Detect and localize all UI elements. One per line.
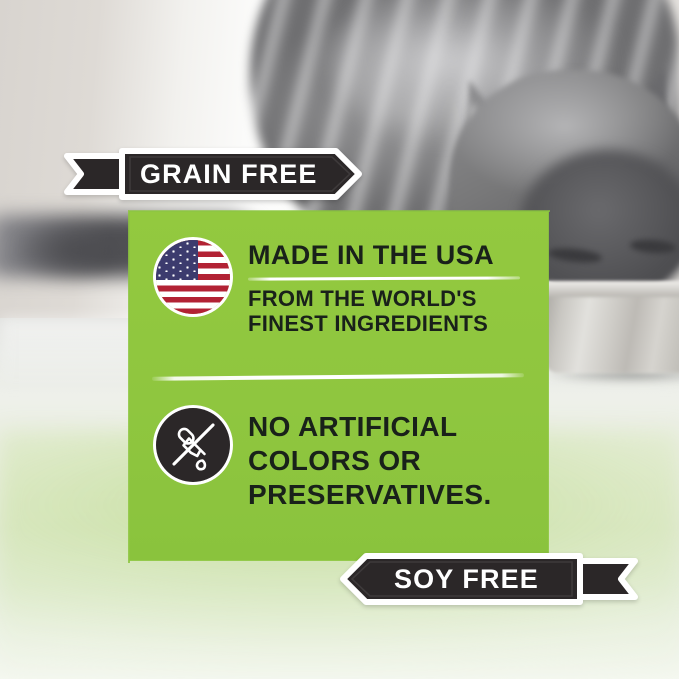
feature-line-2: COLORS OR xyxy=(248,444,492,478)
feature-no-artificial: NO ARTIFICIAL COLORS OR PRESERVATIVES. xyxy=(156,408,492,512)
no-dropper-circle-icon xyxy=(156,408,230,482)
food-bowl-rim xyxy=(542,281,679,297)
usa-flag-circle-icon xyxy=(156,240,230,314)
flag-stars xyxy=(156,240,198,280)
feature-panel: MADE IN THE USA FROM THE WORLD'S FINEST … xyxy=(130,212,548,560)
feature-subline-1: FROM THE WORLD'S xyxy=(248,286,520,312)
feature-subline-2: FINEST INGREDIENTS xyxy=(248,311,520,337)
headline-underline xyxy=(248,276,520,280)
feature-made-in-usa: MADE IN THE USA FROM THE WORLD'S FINEST … xyxy=(156,240,520,337)
feature-line-3: PRESERVATIVES. xyxy=(248,478,492,512)
feature-line-1: NO ARTIFICIAL xyxy=(248,410,492,444)
ribbon-grain-free-label: GRAIN FREE xyxy=(140,159,318,190)
cat-tail-tip xyxy=(10,225,120,281)
ribbon-soy-free-label: SOY FREE xyxy=(394,564,539,595)
ribbon-soy-free: SOY FREE xyxy=(350,553,638,605)
panel-section-divider xyxy=(152,373,524,381)
feature-headline-usa: MADE IN THE USA xyxy=(248,242,520,270)
feature-graphic-scene: MADE IN THE USA FROM THE WORLD'S FINEST … xyxy=(0,0,679,679)
ribbon-grain-free: GRAIN FREE xyxy=(64,148,362,200)
